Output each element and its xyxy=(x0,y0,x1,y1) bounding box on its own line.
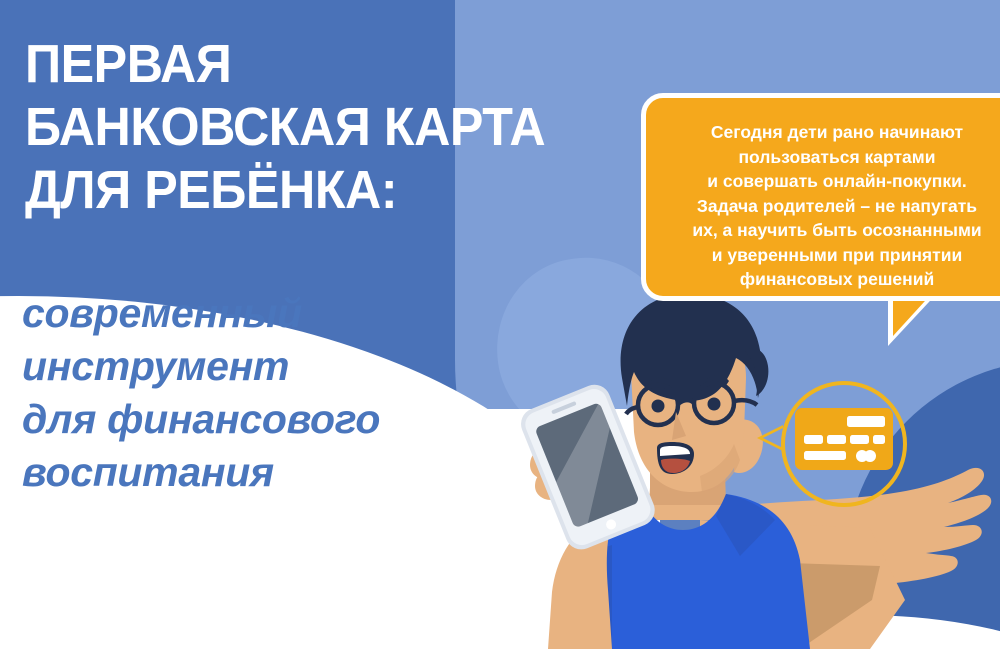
head xyxy=(621,294,769,492)
headline-block: ПЕРВАЯ БАНКОВСКАЯ КАРТА ДЛЯ РЕБЁНКА: xyxy=(25,33,625,222)
speech-bubble: Сегодня дети рано начинают пользоваться … xyxy=(641,93,1000,301)
subheadline-line-3: для финансового xyxy=(22,393,502,446)
subheadline-block: современный инструмент для финансового в… xyxy=(22,287,502,499)
bubble-line-3: и совершать онлайн-покупки. xyxy=(654,169,1000,194)
headline-line-3: ДЛЯ РЕБЁНКА: xyxy=(25,159,583,222)
bubble-line-6: и уверенными при принятии xyxy=(654,243,1000,268)
bubble-line-7: финансовых решений xyxy=(654,267,1000,292)
bubble-line-4: Задача родителей – не напугать xyxy=(654,194,1000,219)
bank-card-icon xyxy=(795,408,893,470)
left-eye xyxy=(652,400,665,413)
card-bubble-tail-inner xyxy=(763,428,783,448)
bubble-line-5: их, а научить быть осознанными xyxy=(654,218,1000,243)
subheadline-line-4: воспитания xyxy=(22,446,502,499)
infographic-poster: ПЕРВАЯ БАНКОВСКАЯ КАРТА ДЛЯ РЕБЁНКА: сов… xyxy=(0,0,1000,649)
bubble-line-1: Сегодня дети рано начинают xyxy=(654,120,1000,145)
bubble-line-2: пользоваться картами xyxy=(654,145,1000,170)
speech-bubble-text: Сегодня дети рано начинают пользоваться … xyxy=(646,120,1000,292)
right-eye xyxy=(708,398,721,411)
subheadline-line-1: современный xyxy=(22,287,502,340)
headline-line-1: ПЕРВАЯ xyxy=(25,33,583,96)
subheadline-line-2: инструмент xyxy=(22,340,502,393)
headline-line-2: БАНКОВСКАЯ КАРТА xyxy=(25,96,583,159)
